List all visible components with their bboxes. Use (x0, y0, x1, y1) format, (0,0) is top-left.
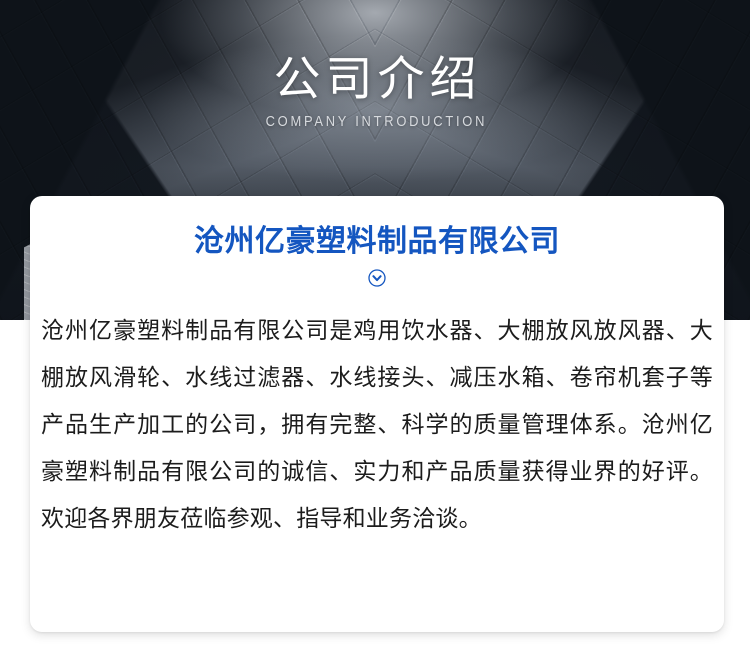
page-title: 公司介绍 (0, 0, 750, 105)
chevron-down-circle-icon (368, 269, 386, 287)
page-subtitle: COMPANY INTRODUCTION (53, 114, 698, 131)
company-introduction-page: 公司介绍 COMPANY INTRODUCTION 沧州亿豪塑料制品有限公司 沧… (0, 0, 750, 658)
content-card: 沧州亿豪塑料制品有限公司 沧州亿豪塑料制品有限公司是鸡用饮水器、大棚放风放风器、… (30, 196, 724, 632)
company-name-heading: 沧州亿豪塑料制品有限公司 (30, 196, 724, 261)
company-description: 沧州亿豪塑料制品有限公司是鸡用饮水器、大棚放风放风器、大棚放风滑轮、水线过滤器、… (30, 287, 724, 542)
hero-title-group: 公司介绍 COMPANY INTRODUCTION (0, 0, 750, 130)
divider (30, 269, 724, 287)
